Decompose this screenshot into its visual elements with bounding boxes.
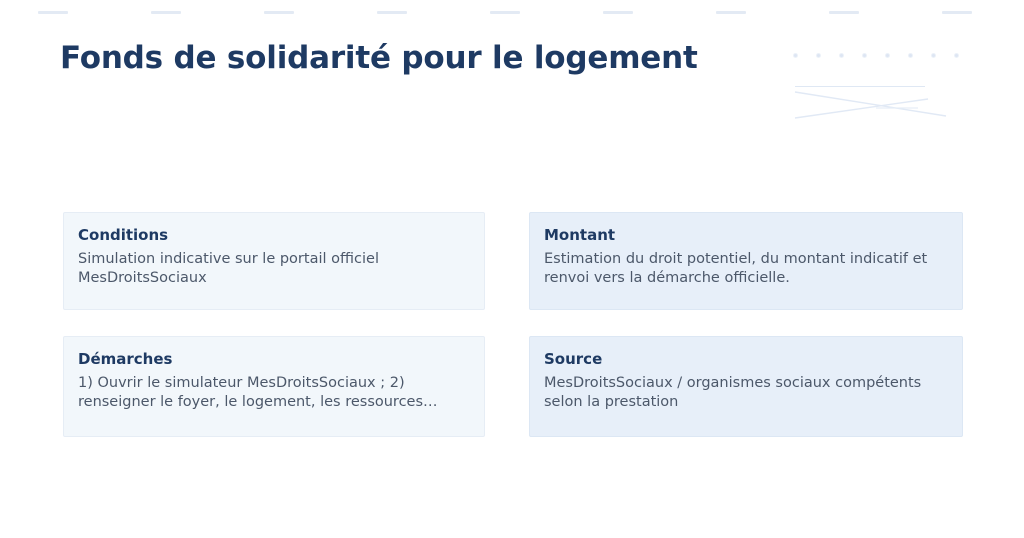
- card-title: Montant: [544, 225, 948, 245]
- dot-mark: [863, 54, 866, 57]
- page-title: Fonds de solidarité pour le logement: [60, 38, 820, 78]
- dash-mark: [716, 11, 746, 14]
- dash-mark: [264, 11, 294, 14]
- card-montant[interactable]: Montant Estimation du droit potentiel, d…: [529, 212, 963, 310]
- slide-canvas: Fonds de solidarité pour le logement Con…: [0, 0, 1024, 538]
- dash-mark: [829, 11, 859, 14]
- decoration-rule-line: [795, 86, 925, 87]
- header-decoration: [786, 48, 986, 120]
- crossing-lines-decoration: [786, 90, 986, 120]
- dot-mark: [955, 54, 958, 57]
- dot-mark: [886, 54, 889, 57]
- card-source[interactable]: Source MesDroitsSociaux / organismes soc…: [529, 336, 963, 437]
- card-title: Démarches: [78, 349, 470, 369]
- card-body: Estimation du droit potentiel, du montan…: [544, 250, 936, 288]
- dash-mark: [603, 11, 633, 14]
- card-body: Simulation indicative sur le portail off…: [78, 250, 453, 288]
- dot-mark: [909, 54, 912, 57]
- dot-row-decoration: [786, 54, 968, 60]
- card-body: 1) Ouvrir le simulateur MesDroitsSociaux…: [78, 374, 453, 412]
- dash-mark: [151, 11, 181, 14]
- card-demarches[interactable]: Démarches 1) Ouvrir le simulateur MesDro…: [63, 336, 485, 437]
- card-conditions[interactable]: Conditions Simulation indicative sur le …: [63, 212, 485, 310]
- dot-mark: [817, 54, 820, 57]
- card-body: MesDroitsSociaux / organismes sociaux co…: [544, 374, 936, 412]
- card-title: Conditions: [78, 225, 470, 245]
- dash-mark: [490, 11, 520, 14]
- dash-mark: [377, 11, 407, 14]
- dot-mark: [932, 54, 935, 57]
- dot-mark: [840, 54, 843, 57]
- card-title: Source: [544, 349, 948, 369]
- dot-mark: [794, 54, 797, 57]
- dash-mark: [38, 11, 68, 14]
- dash-mark: [942, 11, 972, 14]
- top-dash-rule-decoration: [0, 11, 1024, 15]
